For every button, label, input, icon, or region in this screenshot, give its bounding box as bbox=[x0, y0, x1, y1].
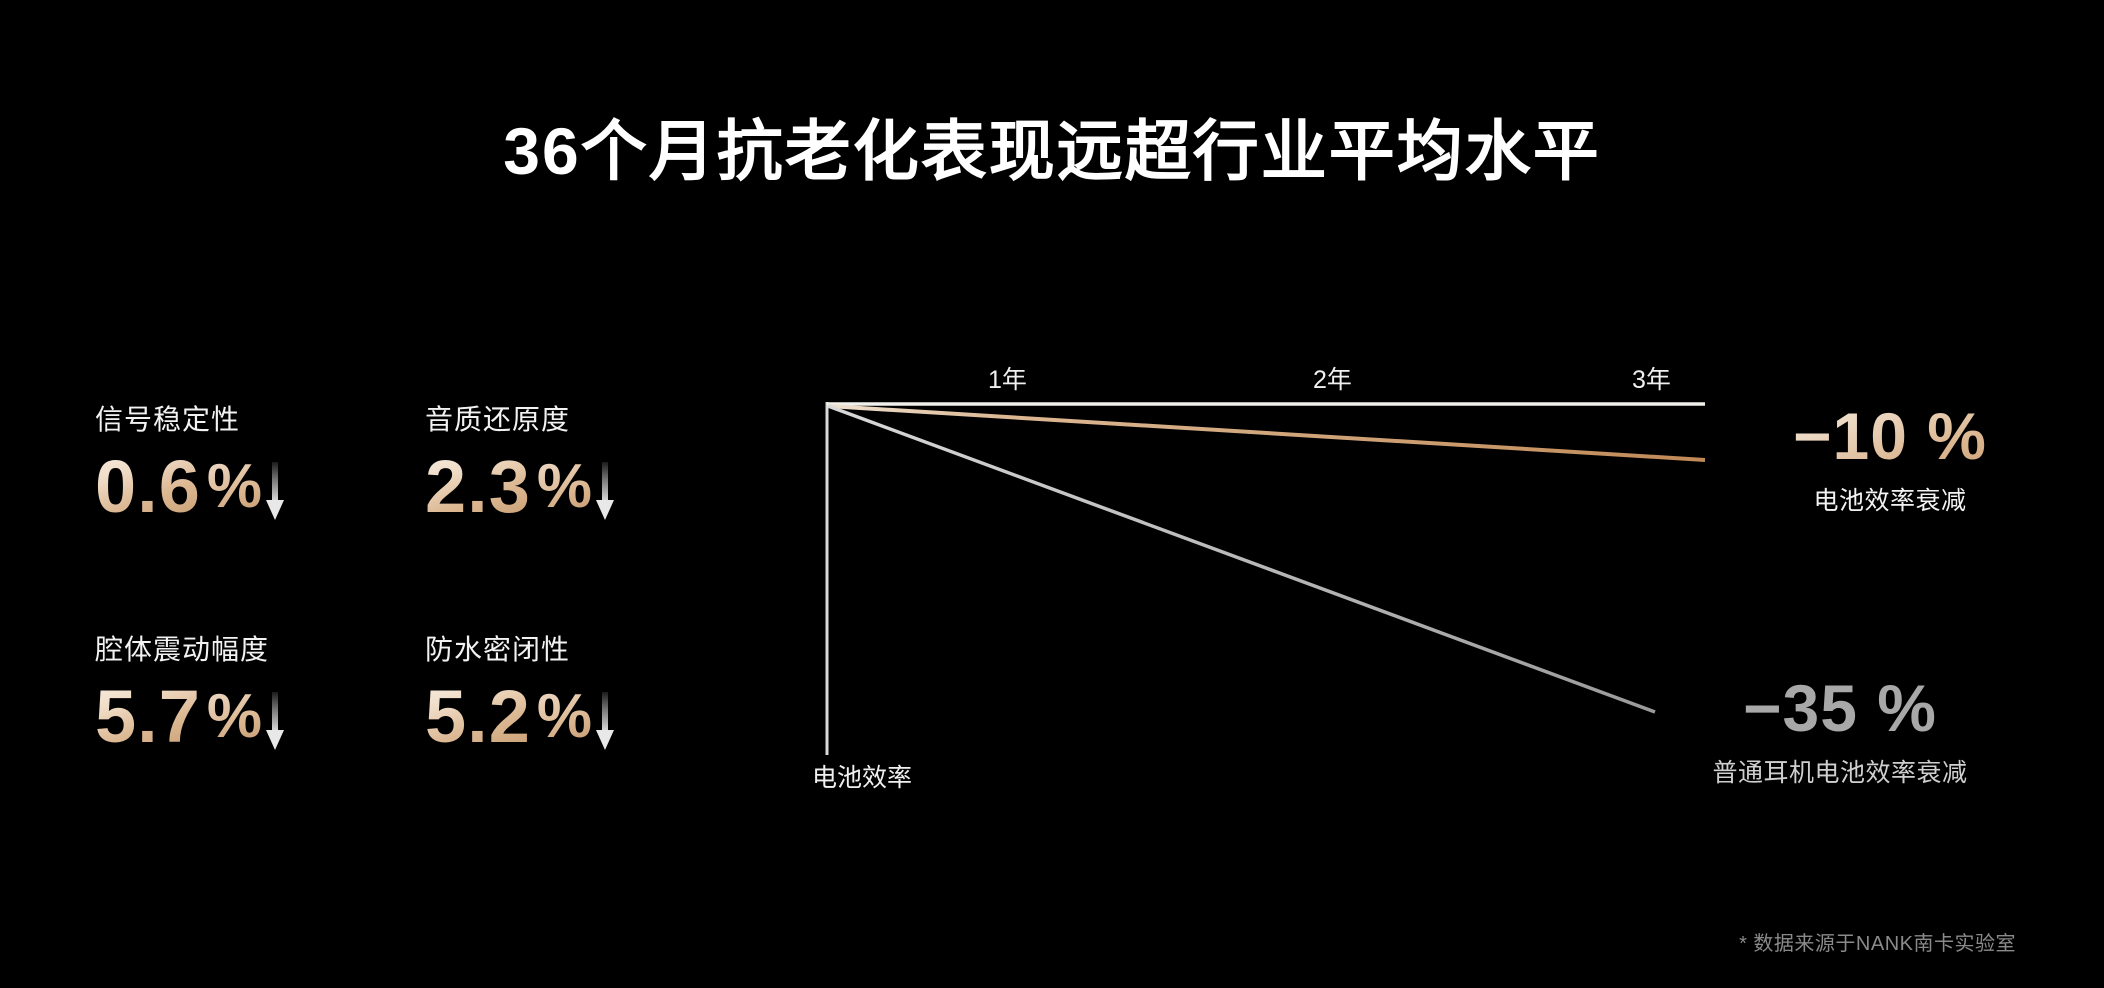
callout-nank-decay: −10 % 电池效率衰减 bbox=[1740, 400, 2040, 517]
page-title: 36个月抗老化表现远超行业平均水平 bbox=[0, 98, 2104, 194]
callout-ordinary-decay: −35 % 普通耳机电池效率衰减 bbox=[1640, 672, 2040, 789]
source-footnote: * 数据来源于NANK南卡实验室 bbox=[1739, 927, 2016, 956]
chart-plot-area bbox=[760, 330, 1760, 800]
metric-unit: % bbox=[207, 448, 262, 526]
down-arrow-icon bbox=[596, 692, 614, 752]
y-axis-label: 电池效率 bbox=[812, 758, 912, 794]
metrics-grid: 信号稳定性 0.6 % bbox=[95, 398, 735, 858]
battery-decay-chart: 1年 2年 3年 电池 bbox=[760, 330, 1760, 800]
metric-value: 0.6 % bbox=[95, 448, 425, 526]
metric-number: 5.2 bbox=[425, 678, 531, 756]
x-tick-year-1: 1年 bbox=[988, 360, 1027, 396]
metric-label: 腔体震动幅度 bbox=[95, 628, 425, 668]
metric-label: 防水密闭性 bbox=[425, 628, 735, 668]
slide-root: 36个月抗老化表现远超行业平均水平 信号稳定性 0.6 % bbox=[0, 0, 2104, 988]
metric-unit: % bbox=[207, 678, 262, 756]
metric-value: 5.2 % bbox=[425, 678, 735, 756]
metric-label: 音质还原度 bbox=[425, 398, 735, 438]
metric-card-cavity-vibration: 腔体震动幅度 5.7 % bbox=[95, 628, 425, 858]
down-arrow-icon bbox=[266, 692, 284, 752]
metric-label: 信号稳定性 bbox=[95, 398, 425, 438]
callout-value: −35 % bbox=[1640, 672, 2040, 745]
metric-card-waterproof-seal: 防水密闭性 5.2 % bbox=[425, 628, 735, 858]
callout-caption: 电池效率衰减 bbox=[1740, 481, 2040, 517]
metric-value: 5.7 % bbox=[95, 678, 425, 756]
metric-card-signal-stability: 信号稳定性 0.6 % bbox=[95, 398, 425, 628]
metric-number: 5.7 bbox=[95, 678, 201, 756]
callout-caption: 普通耳机电池效率衰减 bbox=[1640, 753, 2040, 789]
x-tick-year-3: 3年 bbox=[1632, 360, 1671, 396]
metric-card-audio-fidelity: 音质还原度 2.3 % bbox=[425, 398, 735, 628]
metric-unit: % bbox=[537, 448, 592, 526]
x-tick-year-2: 2年 bbox=[1313, 360, 1352, 396]
series-line-ordinary bbox=[828, 406, 1655, 712]
metric-number: 2.3 bbox=[425, 448, 531, 526]
series-line-nank bbox=[828, 406, 1705, 460]
metric-number: 0.6 bbox=[95, 448, 201, 526]
metric-unit: % bbox=[537, 678, 592, 756]
down-arrow-icon bbox=[596, 462, 614, 522]
callout-value: −10 % bbox=[1740, 400, 2040, 473]
down-arrow-icon bbox=[266, 462, 284, 522]
metric-value: 2.3 % bbox=[425, 448, 735, 526]
